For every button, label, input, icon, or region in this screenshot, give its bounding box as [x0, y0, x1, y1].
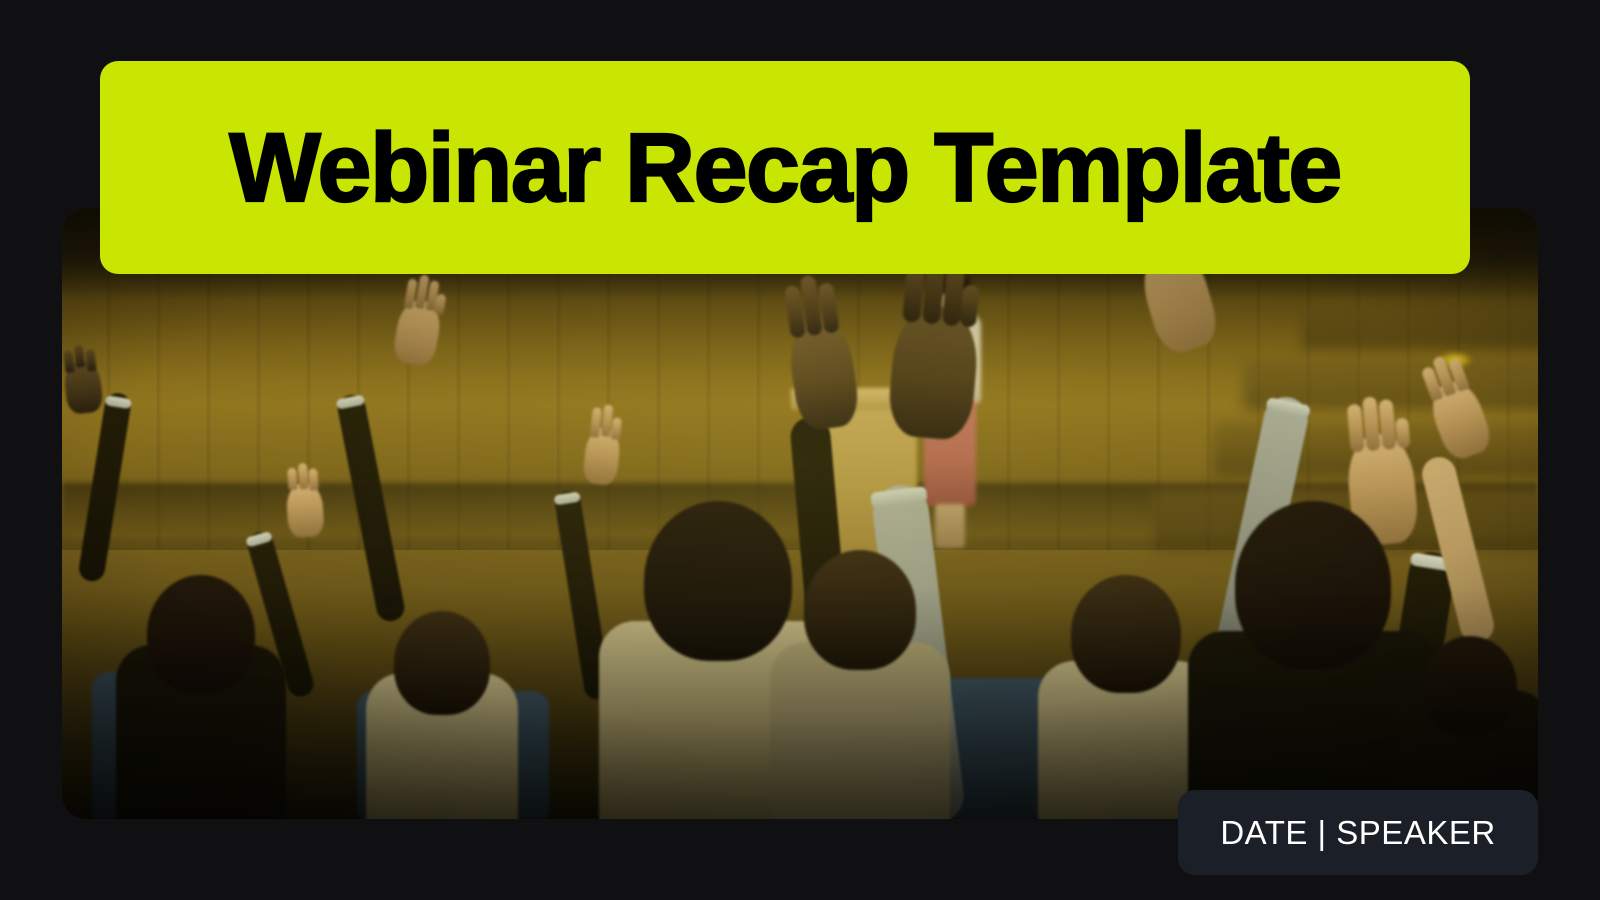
finger: [287, 468, 298, 491]
audience-head: [1235, 501, 1391, 669]
date-speaker-label: DATE | SPEAKER: [1220, 814, 1495, 852]
seating-tier: [1302, 306, 1538, 349]
audience-head: [1071, 575, 1181, 693]
audience-head: [804, 550, 916, 670]
page-title: Webinar Recap Template: [229, 119, 1341, 216]
audience-head: [147, 575, 255, 693]
title-banner: Webinar Recap Template: [100, 61, 1470, 274]
audience-member: [121, 575, 281, 819]
shirt-cuff: [104, 396, 131, 410]
finger: [1395, 418, 1411, 449]
audience-head: [394, 611, 490, 715]
finger: [309, 468, 320, 491]
finger: [959, 284, 979, 327]
slide-canvas: Webinar Recap Template DATE | SPEAKER: [0, 0, 1600, 900]
audience-member: [785, 550, 935, 819]
finger: [610, 417, 621, 440]
audience-head: [644, 501, 792, 661]
speaker-legs: [935, 504, 965, 548]
date-speaker-badge[interactable]: DATE | SPEAKER: [1178, 790, 1538, 875]
audience-member: [1051, 575, 1201, 819]
auditorium-photo: [62, 208, 1538, 819]
audience-member: [372, 611, 512, 819]
audience-head: [1423, 636, 1517, 736]
audience-member: [1213, 501, 1413, 819]
hero-photo-card: [62, 208, 1538, 819]
